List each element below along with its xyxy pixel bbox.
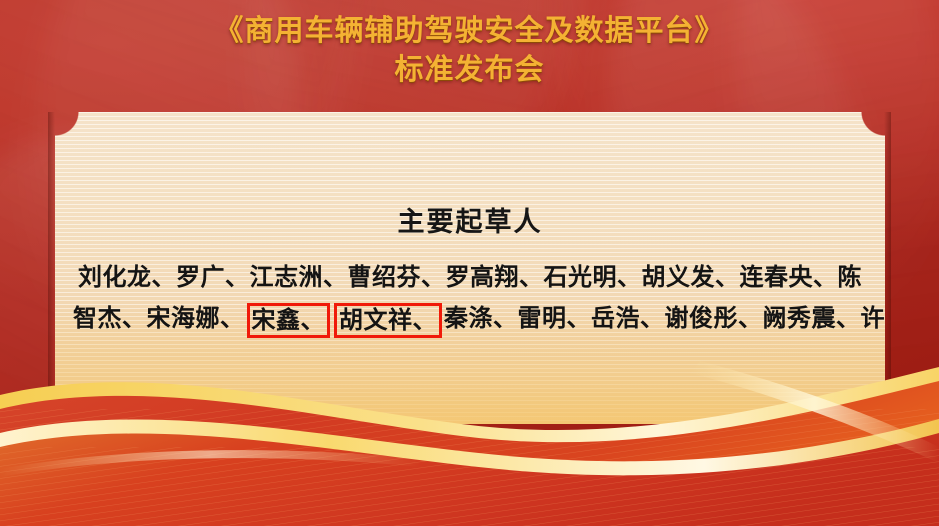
name-line-2: 智杰、宋海娜、宋鑫、胡文祥、秦涤、雷明、岳浩、谢俊彤、阙秀震、许斯亮。: [73, 298, 867, 339]
highlighted-name-song-xin: 宋鑫、: [247, 303, 331, 337]
title-line-2: 标准发布会: [0, 53, 939, 85]
wave-graphic: [0, 351, 939, 526]
panel-content: 主要起草人 刘化龙、罗广、江志洲、曹绍芬、罗高翔、石光明、胡义发、连春央、陈 智…: [55, 200, 885, 340]
slide-title: 《商用车辆辅助驾驶安全及数据平台》 标准发布会: [0, 14, 939, 86]
name-line-2-head: 智杰、宋海娜、: [73, 304, 245, 332]
drafter-name-list: 刘化龙、罗广、江志洲、曹绍芬、罗高翔、石光明、胡义发、连春央、陈 智杰、宋海娜、…: [73, 257, 867, 340]
presentation-slide: 《商用车辆辅助驾驶安全及数据平台》 标准发布会 主要起草人 刘化龙、罗广、江志洲…: [0, 0, 939, 526]
name-line-2-tail: 秦涤、雷明、岳浩、谢俊彤、阙秀震、许斯亮。: [444, 304, 939, 332]
highlighted-name-hu-wenxiang: 胡文祥、: [334, 303, 442, 337]
bottom-wave-decoration: [0, 351, 939, 526]
title-line-1: 《商用车辆辅助驾驶安全及数据平台》: [0, 14, 939, 46]
panel-heading: 主要起草人: [73, 200, 867, 239]
name-line-1: 刘化龙、罗广、江志洲、曹绍芬、罗高翔、石光明、胡义发、连春央、陈: [73, 257, 867, 298]
